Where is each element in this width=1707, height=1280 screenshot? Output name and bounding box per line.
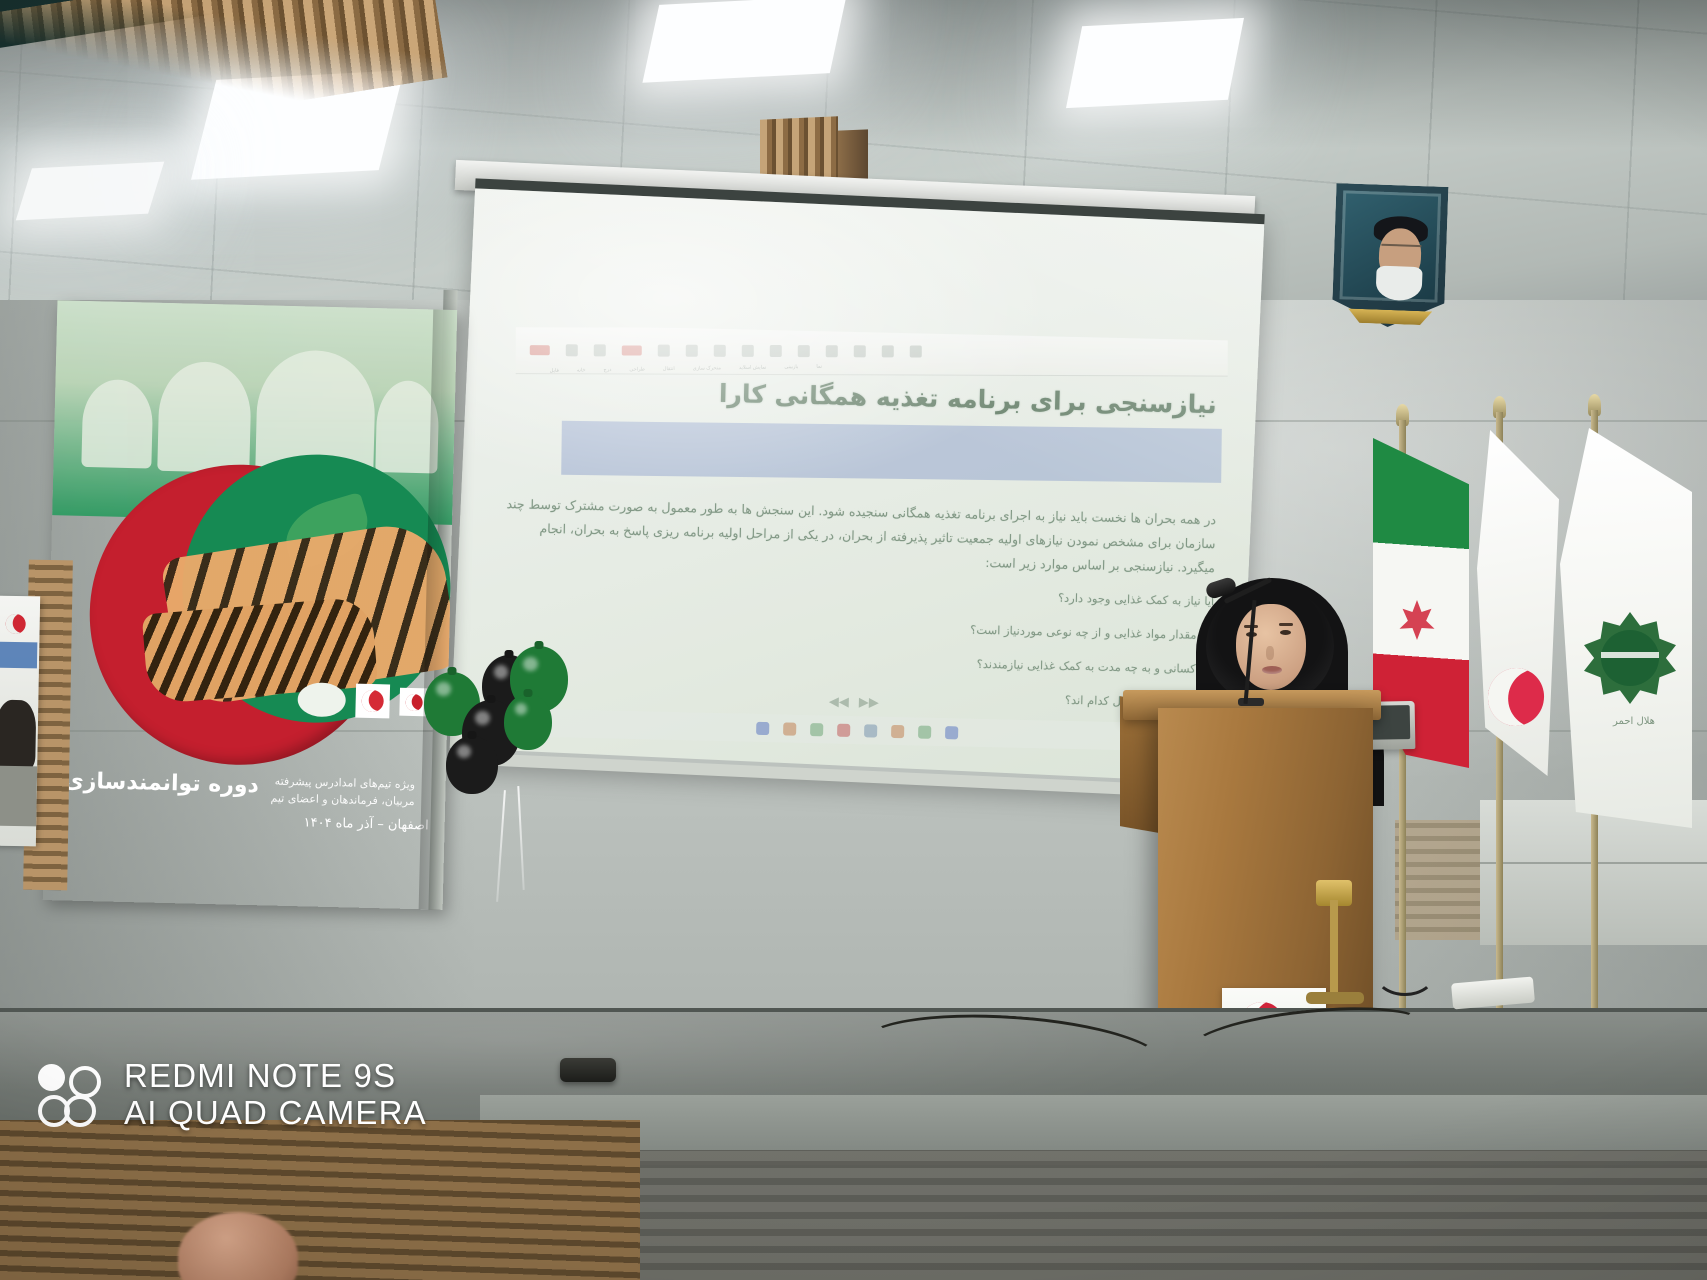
balloon-green	[504, 694, 552, 750]
portrait-glasses	[1381, 244, 1421, 255]
floor-box	[560, 1058, 616, 1082]
camera-lens-ring	[69, 1066, 101, 1098]
ceiling-light-panel	[16, 162, 164, 221]
camera-lens-filled	[38, 1064, 65, 1091]
lower-seating-row	[480, 1150, 1707, 1280]
dome-graphic	[81, 379, 153, 469]
banner-subtitle-2: مربیان، فرماندهان و اعضای تیم	[270, 790, 414, 810]
floor-cable-loop	[1374, 950, 1436, 996]
emblem-caption: هلال احمر	[1592, 716, 1676, 752]
wall-portrait-frame	[1332, 183, 1449, 329]
camera-lens-pair	[38, 1095, 94, 1121]
red-crescent-oval-seal-icon	[297, 682, 346, 717]
light-stand-base	[1306, 992, 1364, 1004]
emblem-band	[1601, 652, 1659, 658]
portrait-tassel	[1348, 309, 1432, 326]
watermark-camera-name: AI QUAD CAMERA	[124, 1095, 427, 1132]
banner-title-row: دوره توانمندسازی ویژه تیم‌های امدادرس پی…	[63, 769, 430, 811]
dome-graphic	[157, 361, 252, 473]
ceiling-light-panel	[1066, 18, 1244, 108]
foreground-wood-bench	[0, 1120, 640, 1280]
watermark-text: REDMI NOTE 9S AI QUAD CAMERA	[124, 1058, 427, 1132]
portrait-beard	[1375, 266, 1422, 302]
watermark-device-name: REDMI NOTE 9S	[124, 1058, 427, 1095]
banner-main-title: دوره توانمندسازی	[63, 769, 259, 799]
quad-camera-icon	[38, 1064, 104, 1126]
portrait-inner-frame	[1339, 190, 1441, 303]
photo-scene: فایل خانه درج طراحی انتقال متحرک سازی نم…	[0, 0, 1707, 1280]
light-stand-pole	[1330, 900, 1338, 996]
camera-watermark: REDMI NOTE 9S AI QUAD CAMERA	[38, 1058, 427, 1132]
microphone-base	[1238, 698, 1264, 706]
red-crescent-badge-icon	[355, 684, 390, 719]
event-banner: دوره توانمندسازی ویژه تیم‌های امدادرس پی…	[43, 300, 458, 910]
side-poster	[0, 596, 40, 847]
poster-portrait	[0, 700, 36, 771]
banner-location-date: اصفهان – آذر ماه ۱۴۰۴	[63, 809, 429, 833]
banner-text-block: دوره توانمندسازی ویژه تیم‌های امدادرس پی…	[63, 769, 430, 834]
emblem-inner-circle	[1601, 630, 1659, 686]
banner-logo-row	[297, 682, 428, 719]
balloon-black	[446, 736, 498, 794]
red-crescent-icon	[6, 614, 26, 634]
banner-subtitle-group: ویژه تیم‌های امدادرس پیشرفته مربیان، فرم…	[270, 774, 415, 811]
hijab-fold	[1206, 586, 1334, 706]
poster-band	[0, 642, 37, 669]
ceiling-light-panel	[642, 0, 846, 83]
poster-body	[0, 766, 37, 827]
